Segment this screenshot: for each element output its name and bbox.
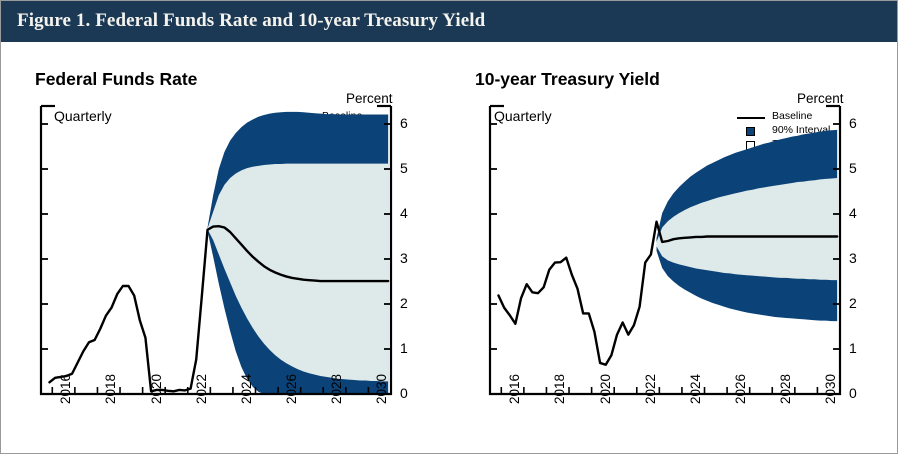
x-tick-label: 2028 bbox=[329, 374, 344, 404]
x-tick-label: 2030 bbox=[374, 374, 389, 404]
x-tick-label: 2018 bbox=[103, 374, 118, 404]
x-tick-label: 2022 bbox=[194, 374, 209, 404]
y-tick-label: 4 bbox=[849, 205, 857, 221]
x-tick-label: 2016 bbox=[58, 374, 73, 404]
x-tick-label: 2030 bbox=[823, 374, 838, 404]
x-tick-label: 2024 bbox=[688, 374, 703, 404]
figure-page: Figure 1. Federal Funds Rate and 10-year… bbox=[0, 0, 898, 454]
x-tick-label: 2026 bbox=[733, 374, 748, 404]
x-tick-label: 2022 bbox=[643, 374, 658, 404]
x-tick-label: 2018 bbox=[552, 374, 567, 404]
y-tick-label: 0 bbox=[849, 385, 857, 401]
y-tick-label: 5 bbox=[400, 160, 408, 176]
panel-federal-funds-rate: Federal Funds Rate Percent Quarterly Bas… bbox=[1, 42, 450, 454]
x-tick-labels-left: 20162018202020222024202620282030 bbox=[1, 42, 450, 454]
y-tick-label: 4 bbox=[400, 205, 408, 221]
x-tick-label: 2026 bbox=[284, 374, 299, 404]
y-tick-label: 5 bbox=[849, 160, 857, 176]
x-tick-label: 2020 bbox=[598, 374, 613, 404]
x-tick-label: 2016 bbox=[507, 374, 522, 404]
x-tick-label: 2024 bbox=[239, 374, 254, 404]
y-tick-label: 1 bbox=[849, 340, 857, 356]
x-tick-label: 2020 bbox=[149, 374, 164, 404]
panel-ten-year-treasury-yield: 10-year Treasury Yield Percent Quarterly… bbox=[450, 42, 898, 454]
figure-header-bar: Figure 1. Federal Funds Rate and 10-year… bbox=[1, 1, 898, 42]
y-tick-label: 6 bbox=[849, 115, 857, 131]
y-tick-label: 0 bbox=[400, 385, 408, 401]
y-tick-label: 6 bbox=[400, 115, 408, 131]
y-tick-label: 2 bbox=[400, 295, 408, 311]
y-tick-label: 3 bbox=[400, 250, 408, 266]
figure-title: Figure 1. Federal Funds Rate and 10-year… bbox=[17, 10, 485, 32]
x-tick-label: 2028 bbox=[778, 374, 793, 404]
y-tick-label: 3 bbox=[849, 250, 857, 266]
x-tick-labels-right: 20162018202020222024202620282030 bbox=[450, 42, 898, 454]
y-tick-label: 2 bbox=[849, 295, 857, 311]
y-tick-label: 1 bbox=[400, 340, 408, 356]
